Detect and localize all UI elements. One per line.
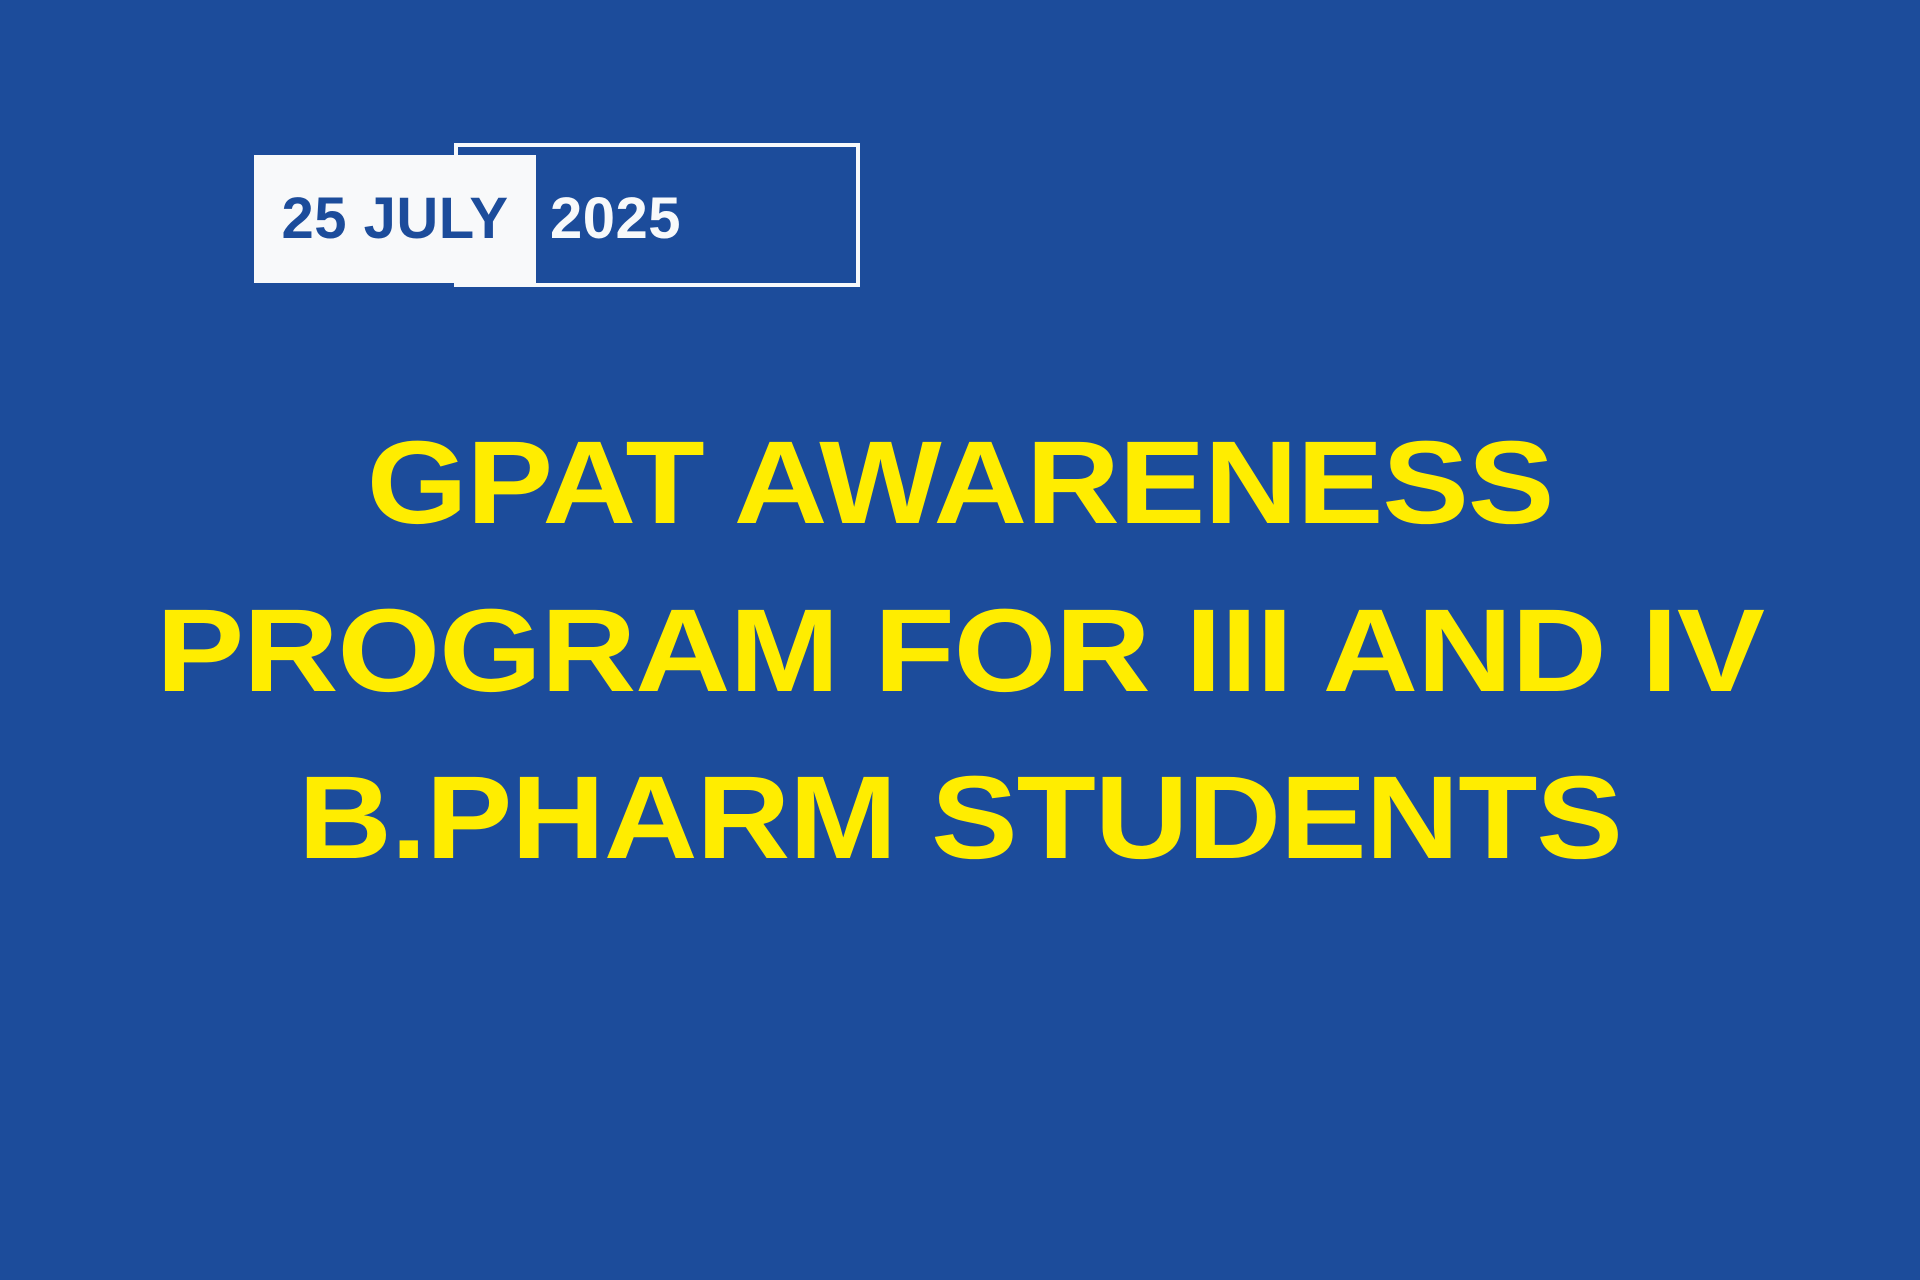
- date-badge-year: 2025: [550, 155, 800, 283]
- headline-line-2: PROGRAM FOR III AND IV: [0, 568, 1920, 736]
- headline-block: GPAT AWARENESS PROGRAM FOR III AND IV B.…: [0, 400, 1920, 903]
- date-badge-day-month: 25 JULY: [254, 155, 536, 283]
- poster-canvas: 25 JULY 2025 GPAT AWARENESS PROGRAM FOR …: [0, 0, 1920, 1280]
- headline-line-3: B.PHARM STUDENTS: [0, 735, 1920, 903]
- date-badge: 25 JULY 2025: [254, 143, 864, 291]
- headline-line-1: GPAT AWARENESS: [0, 400, 1920, 568]
